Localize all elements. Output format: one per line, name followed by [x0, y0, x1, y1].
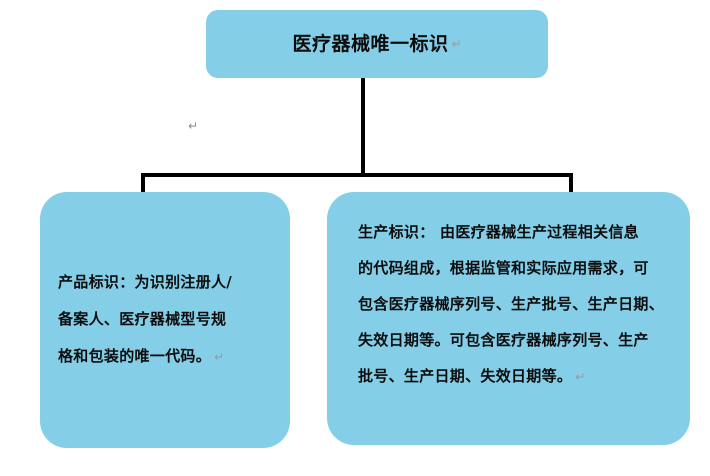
node-product-identifier[interactable]: 产品标识：为识别注册人/ 备案人、医疗器械型号规 格和包装的唯一代码。↵	[40, 192, 290, 448]
text-line: 备案人、医疗器械型号规	[58, 310, 226, 328]
text-line: 格和包装的唯一代码。	[58, 347, 211, 365]
text-line: 批号、生产日期、失效日期等。	[358, 367, 572, 385]
node-production-identifier[interactable]: 生产标识： 由医疗器械生产过程相关信息 的代码组成，根据监管和实际应用需求，可 …	[327, 192, 690, 445]
node-product-identifier-text: 产品标识：为识别注册人/ 备案人、医疗器械型号规 格和包装的唯一代码。↵	[40, 264, 290, 376]
paragraph-mark-icon: ↵	[451, 37, 461, 51]
connector-trunk-vertical	[361, 76, 365, 177]
node-root-label: 医疗器械唯一标识	[292, 35, 448, 54]
paragraph-mark-icon: ↵	[575, 370, 585, 384]
connector-horizontal-bar	[141, 173, 573, 177]
stray-editor-artifact: ↵	[188, 119, 198, 133]
paragraph-mark-icon: ↵	[214, 350, 224, 364]
text-line: 包含医疗器械序列号、生产批号、生产日期、	[358, 295, 664, 313]
text-line: 生产标识： 由医疗器械生产过程相关信息	[358, 223, 639, 241]
diagram-canvas: 医疗器械唯一标识↵ ↵ 产品标识：为识别注册人/ 备案人、医疗器械型号规 格和包…	[0, 0, 710, 476]
node-root[interactable]: 医疗器械唯一标识↵	[206, 10, 548, 78]
text-line: 产品标识：为识别注册人/	[58, 273, 232, 291]
text-line: 失效日期等。可包含医疗器械序列号、生产	[358, 331, 649, 349]
node-production-identifier-text: 生产标识： 由医疗器械生产过程相关信息 的代码组成，根据监管和实际应用需求，可 …	[327, 192, 690, 395]
text-line: 的代码组成，根据监管和实际应用需求，可	[358, 259, 649, 277]
paragraph-mark-icon: ↵	[188, 119, 198, 133]
